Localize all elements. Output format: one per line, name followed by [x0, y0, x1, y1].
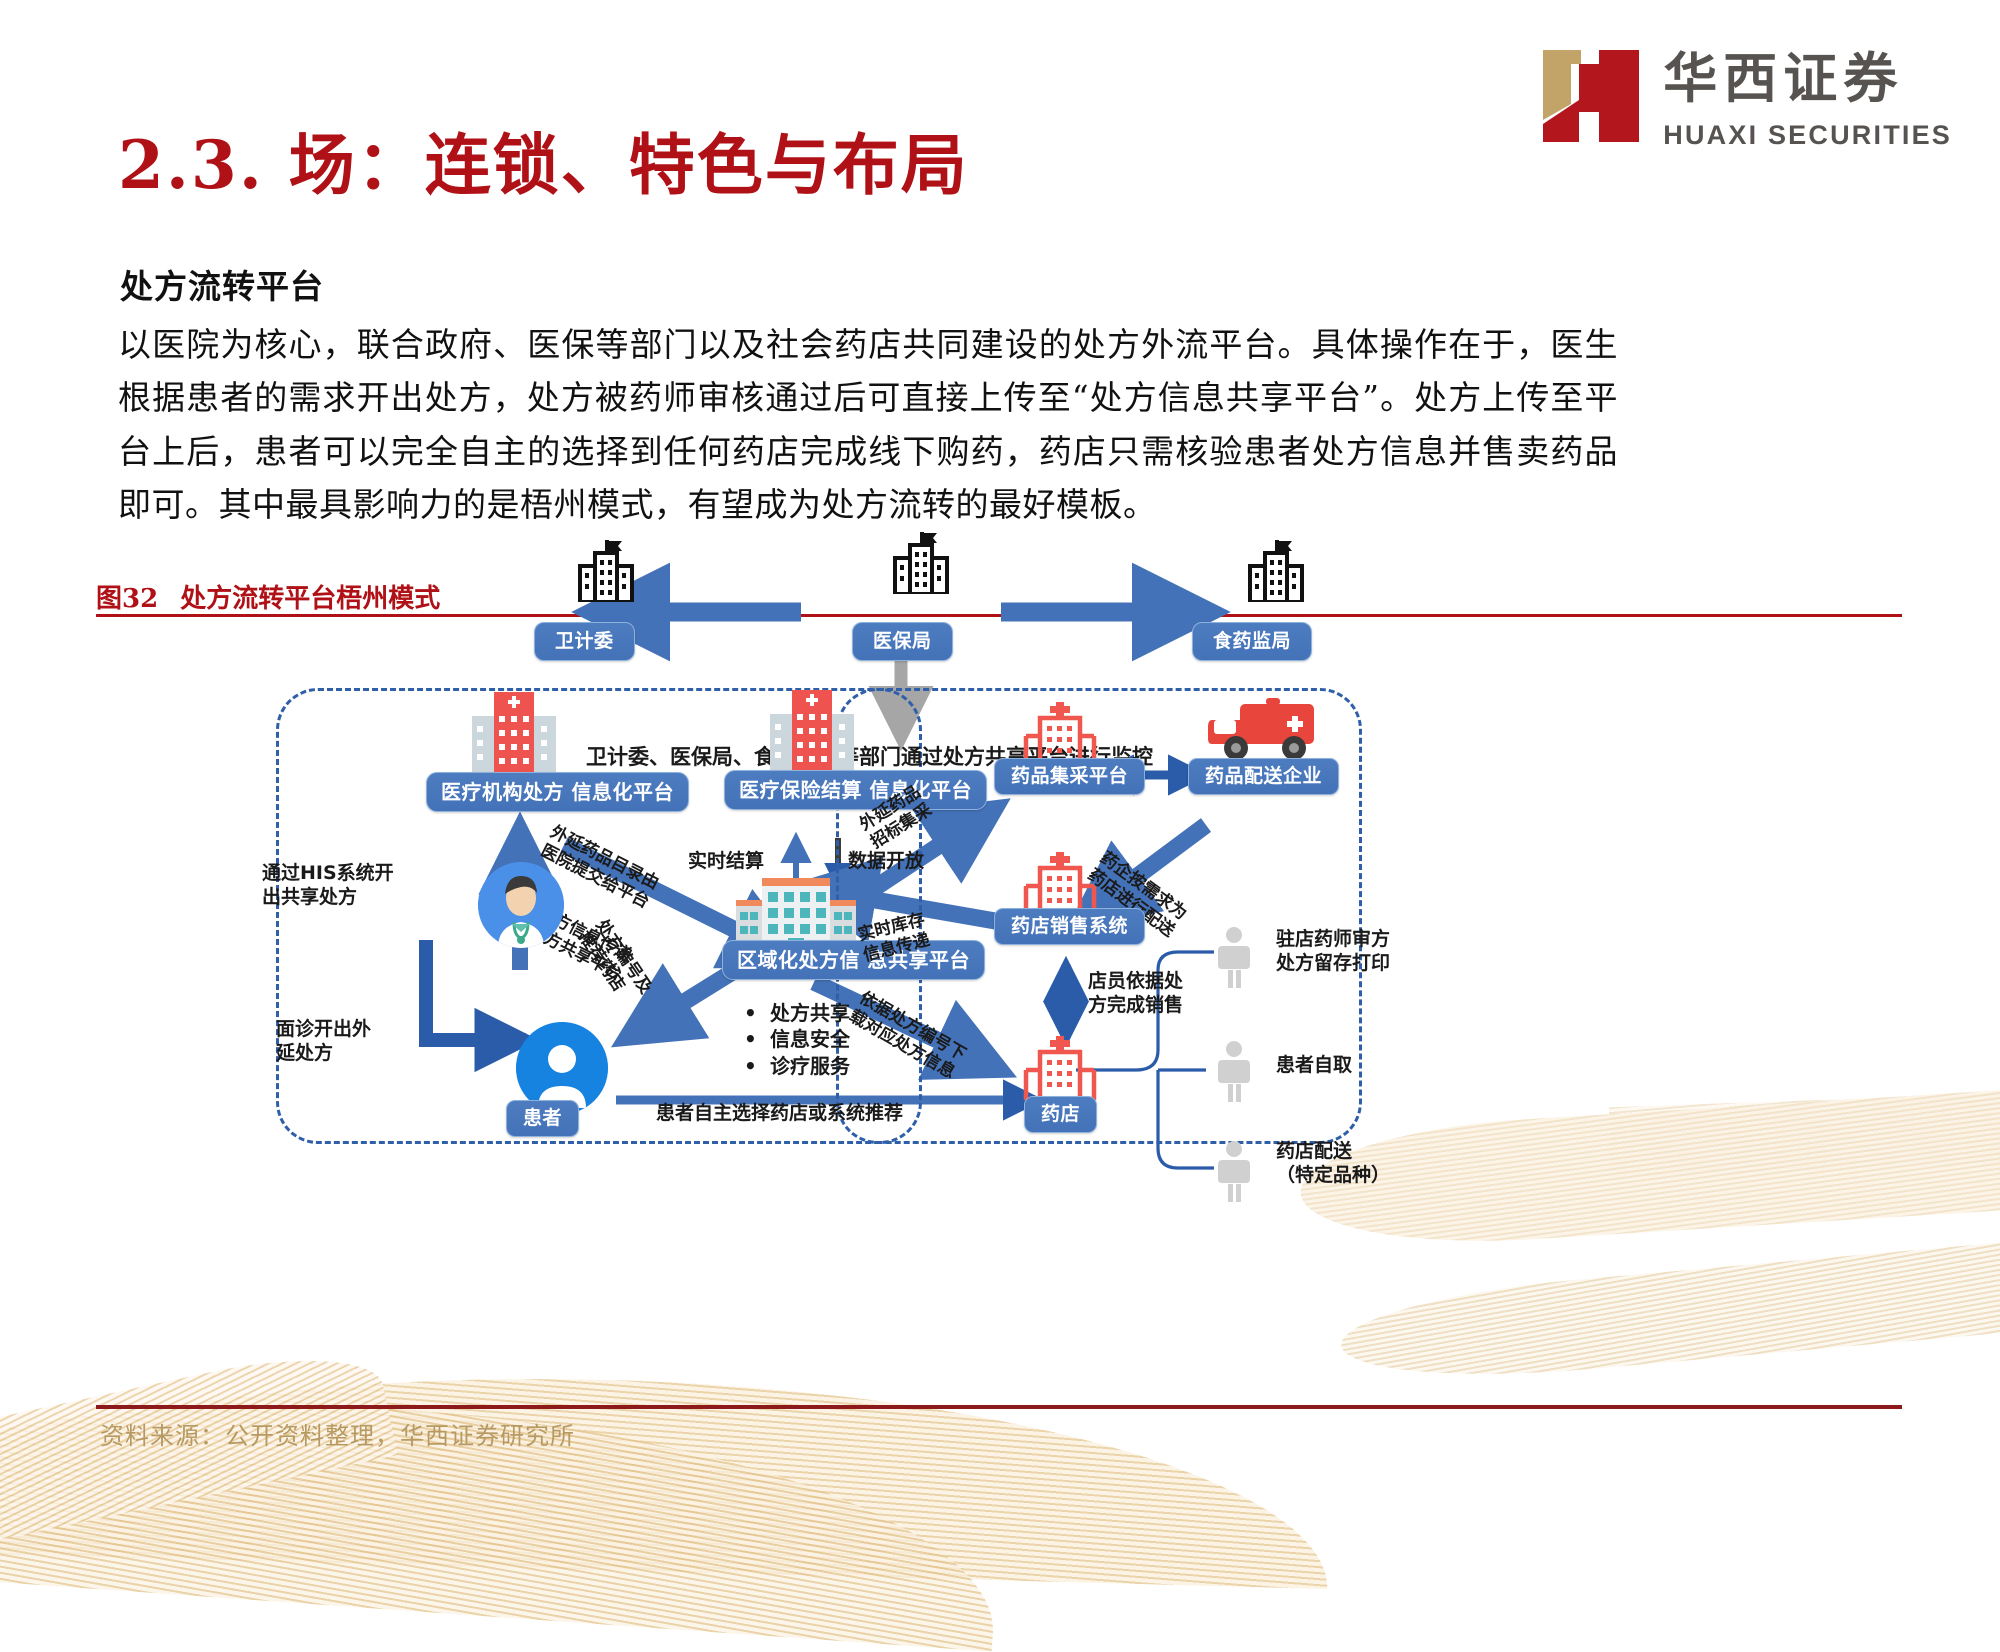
gov-node-right — [1221, 540, 1341, 607]
label-insurance-settlement-platform[interactable]: 医疗保险结算 信息化平台 — [724, 770, 987, 810]
annotation-clerk-sale: 店员依据处 方完成销售 — [1088, 970, 1183, 1018]
government-building-icon — [575, 540, 647, 602]
annotation-data-open: 数据开放 — [848, 850, 924, 874]
logo-text-cn: 华西证券 — [1663, 52, 1952, 106]
label-drug-procurement-platform[interactable]: 药品集采平台 — [994, 758, 1145, 795]
annotation-his-system: 通过HIS系统开 出共享处方 — [262, 862, 394, 910]
pharmacy-building-outline-icon — [1018, 702, 1102, 766]
gov-label-left-wrap: 卫计委 — [534, 622, 635, 661]
hospital-platform-node: 医疗机构处方 信息化平台 — [426, 772, 689, 812]
gold-ribbon-bottom-2 — [0, 1368, 1006, 1651]
company-logo: 华西证券 HUAXI SECURITIES — [1537, 42, 1952, 151]
annotation-realtime-settle: 实时结算 — [688, 850, 764, 874]
label-patient[interactable]: 患者 — [506, 1100, 579, 1137]
gov-node-left — [551, 540, 671, 607]
logo-text-en: HUAXI SECURITIES — [1663, 120, 1952, 151]
huaxi-h-mark — [1537, 42, 1645, 150]
hospital-building-icon — [766, 690, 858, 776]
government-building-icon — [1245, 540, 1317, 602]
bullet-item: 处方共享 — [744, 1000, 850, 1026]
person-icon-wrap-2 — [1214, 1040, 1254, 1107]
regional-platform-node: 区域化处方信 息共享平台 — [722, 940, 985, 980]
annotation-patient-choose: 患者自主选择药店或系统推荐 — [656, 1102, 903, 1126]
insurance-icon-wrap — [766, 690, 858, 781]
pharmacy-option-2: 患者自取 — [1276, 1054, 1352, 1078]
section-subheading: 处方流转平台 — [120, 260, 324, 308]
government-building-icon — [890, 532, 962, 594]
annotation-face-consult: 面诊开出外 延处方 — [276, 1018, 371, 1066]
gov-label-right-wrap: 食药监局 — [1192, 622, 1312, 661]
gov-node-center — [866, 532, 986, 599]
procurement-platform-node: 药品集采平台 — [994, 758, 1145, 795]
slide-page: 2.3. 场：连锁、特色与布局 华西证券 HUAXI SECURITIES 处方… — [0, 0, 2000, 1500]
page-title: 2.3. 场：连锁、特色与布局 — [118, 112, 969, 208]
gov-label-medical-insurance[interactable]: 医保局 — [852, 622, 953, 661]
pharmacy-option-3: 药店配送 （特定品种） — [1276, 1140, 1390, 1188]
person-icon — [1214, 1140, 1254, 1202]
doctor-avatar — [478, 862, 564, 948]
distribution-enterprise-node: 药品配送企业 — [1188, 758, 1339, 795]
hospital-building-icon — [468, 692, 560, 778]
hospital-icon-wrap — [468, 692, 560, 783]
platform-bullet-list: 处方共享 信息安全 诊疗服务 — [744, 1000, 850, 1079]
pharmacy-building-outline-icon — [1018, 1036, 1102, 1100]
gov-label-center-wrap: 医保局 — [852, 622, 953, 661]
section-paragraph: 以医院为核心，联合政府、医保等部门以及社会药店共同建设的处方外流平台。具体操作在… — [118, 318, 1618, 532]
bullet-item: 诊疗服务 — [744, 1053, 850, 1079]
pharmacy-icon-wrap — [1018, 1036, 1102, 1105]
gov-label-health-commission[interactable]: 卫计委 — [534, 622, 635, 661]
pharmacy-option-1: 驻店药师审方 处方留存打印 — [1276, 928, 1390, 976]
person-icon-wrap-1 — [1214, 926, 1254, 993]
figure-caption: 图32 处方流转平台梧州模式 — [96, 578, 1902, 615]
person-icon — [1214, 926, 1254, 988]
label-pharmacy[interactable]: 药店 — [1024, 1096, 1097, 1133]
bullet-item: 信息安全 — [744, 1026, 850, 1052]
figure-rule — [96, 614, 1902, 617]
gov-label-food-drug-admin[interactable]: 食药监局 — [1192, 622, 1312, 661]
label-pharmacy-sales-system[interactable]: 药店销售系统 — [994, 908, 1145, 945]
label-drug-distribution-enterprise[interactable]: 药品配送企业 — [1188, 758, 1339, 795]
label-hospital-prescription-platform[interactable]: 医疗机构处方 信息化平台 — [426, 772, 689, 812]
diagram-wrapper: 卫计委 医保局 — [96, 640, 1902, 1400]
source-text: 资料来源：公开资料整理，华西证券研究所 — [100, 1416, 575, 1451]
pharmacy-building-outline-icon — [1018, 852, 1102, 916]
label-regional-prescription-platform[interactable]: 区域化处方信 息共享平台 — [722, 940, 985, 980]
insurance-platform-node: 医疗保险结算 信息化平台 — [724, 770, 987, 810]
figure-number: 图32 — [96, 578, 158, 615]
ambulance-icon — [1206, 698, 1318, 764]
person-icon-wrap-3 — [1214, 1140, 1254, 1207]
figure-title: 处方流转平台梧州模式 — [180, 578, 440, 615]
pharmacy-sales-system-node: 药店销售系统 — [994, 908, 1145, 945]
person-icon — [1214, 1040, 1254, 1102]
doctor-avatar-wrap — [478, 862, 564, 948]
pharmacy-node: 药店 — [1024, 1096, 1097, 1133]
patient-node: 患者 — [506, 1100, 579, 1137]
source-rule — [96, 1405, 1902, 1409]
